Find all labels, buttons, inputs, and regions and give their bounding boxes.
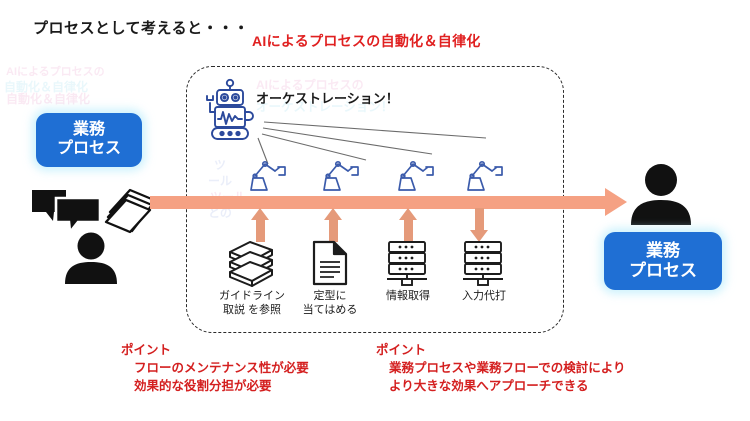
task-caption-1-line1: ガイドライン bbox=[213, 289, 291, 303]
ghost-text-0: AIによるプロセスの bbox=[6, 63, 105, 79]
point-right-line2: より大きな効果へアプローチできる bbox=[376, 378, 626, 396]
point-left-heading: ポイント bbox=[121, 342, 309, 360]
server-icon-2 bbox=[459, 240, 507, 286]
robot-arm-icon-4 bbox=[466, 158, 506, 192]
business-process-box-right[interactable]: 業務 プロセス bbox=[604, 232, 722, 290]
document-icon bbox=[311, 240, 349, 286]
process-flow-arrowhead bbox=[605, 188, 627, 216]
business-process-box-left[interactable]: 業務 プロセス bbox=[36, 113, 142, 167]
robot-arm-icon-3 bbox=[397, 158, 437, 192]
point-left-line1: フローのメンテナンス性が必要 bbox=[121, 360, 309, 378]
ghost-text-1: 自動化＆自律化 bbox=[4, 78, 88, 95]
business-process-box-right-line1: 業務 bbox=[646, 241, 680, 261]
books-icon bbox=[224, 240, 278, 286]
robot-arm-icon-1 bbox=[249, 158, 289, 192]
chat-bubbles-icon bbox=[30, 188, 102, 232]
person-icon-left bbox=[62, 232, 120, 284]
task-arrow-up-2 bbox=[324, 208, 343, 242]
section-title: AIによるプロセスの自動化＆自律化 bbox=[252, 31, 481, 51]
task-arrow-up-1 bbox=[251, 208, 270, 242]
point-block-right: ポイント 業務プロセスや業務フローでの検討により より大きな効果へアプローチでき… bbox=[376, 342, 626, 395]
task-arrow-down-4 bbox=[470, 208, 489, 242]
task-caption-1-line2: 取説 を参照 bbox=[213, 303, 291, 317]
process-flow-bar bbox=[150, 196, 607, 209]
point-block-left: ポイント フローのメンテナンス性が必要 効果的な役割分担が必要 bbox=[121, 342, 309, 395]
server-icon-1 bbox=[383, 240, 431, 286]
task-caption-2-line1: 定型に bbox=[292, 289, 368, 303]
task-caption-3: 情報取得 bbox=[373, 289, 443, 303]
person-icon-right bbox=[628, 163, 694, 225]
business-process-box-left-line1: 業務 bbox=[73, 121, 105, 140]
task-caption-2: 定型に 当てはめる bbox=[292, 289, 368, 317]
task-caption-2-line2: 当てはめる bbox=[292, 303, 368, 317]
point-right-line1: 業務プロセスや業務フローでの検討により bbox=[376, 360, 626, 378]
task-caption-1: ガイドライン 取説 を参照 bbox=[213, 289, 291, 317]
task-caption-3-line1: 情報取得 bbox=[373, 289, 443, 303]
point-right-heading: ポイント bbox=[376, 342, 626, 360]
ghost-text-2: 自動化＆自律化 bbox=[6, 90, 90, 107]
task-arrow-up-3 bbox=[399, 208, 418, 242]
slide-canvas: AIによるプロセスの 自動化＆自律化 自動化＆自律化 AIによるプロセスの オー… bbox=[0, 0, 750, 421]
robot-arm-icon-2 bbox=[322, 158, 362, 192]
task-caption-4: 入力代打 bbox=[449, 289, 519, 303]
business-process-box-left-line2: プロセス bbox=[57, 140, 121, 159]
point-left-line2: 効果的な役割分担が必要 bbox=[121, 378, 309, 396]
task-caption-4-line1: 入力代打 bbox=[449, 289, 519, 303]
page-title: プロセスとして考えると・・・ bbox=[33, 17, 249, 38]
business-process-box-right-line2: プロセス bbox=[629, 261, 697, 281]
